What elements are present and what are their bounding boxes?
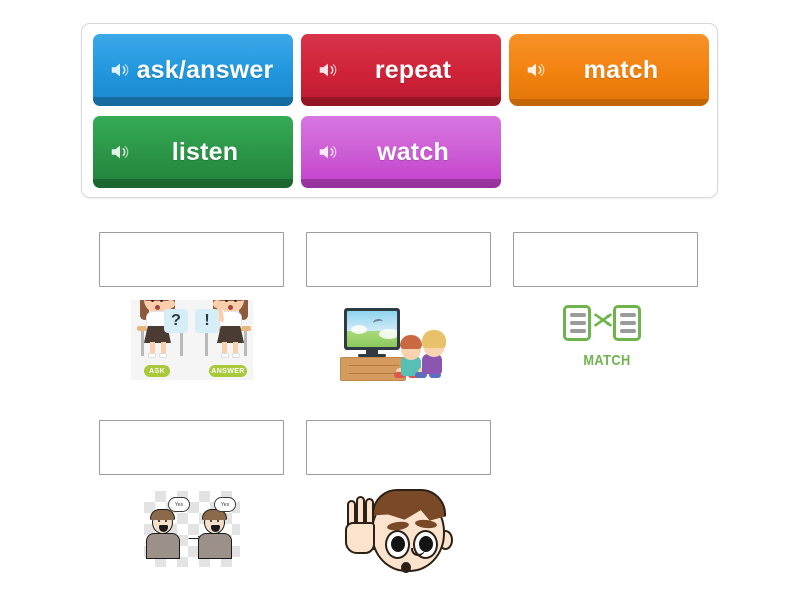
shoe xyxy=(148,353,156,358)
hair xyxy=(400,335,422,349)
tile-label: ask/answer xyxy=(133,58,283,83)
man-speaking-1 xyxy=(146,511,182,561)
tile-listen[interactable]: listen xyxy=(93,116,293,188)
mouth xyxy=(401,562,411,573)
tile-label: repeat xyxy=(341,58,491,83)
cabinet-drawer-line xyxy=(349,365,399,366)
answer-image-ask-answer: ? ASK ! ANSWER xyxy=(131,300,253,380)
hand xyxy=(167,300,175,308)
answer-image-match: MATCH xyxy=(563,302,651,380)
cloud xyxy=(351,325,367,334)
word-bank: ask/answer repeat match xyxy=(81,23,718,198)
mouth xyxy=(155,305,160,310)
answer-image-watch-tv xyxy=(338,303,458,381)
desk-leg xyxy=(141,331,144,356)
desk-leg xyxy=(180,331,183,356)
doc-line xyxy=(570,321,586,325)
speaker-icon[interactable] xyxy=(525,59,547,81)
tile-label: watch xyxy=(341,140,491,165)
shoe xyxy=(221,353,229,358)
drop-zone-match[interactable] xyxy=(513,232,698,287)
tile-repeat[interactable]: repeat xyxy=(301,34,501,106)
man-speaking-2 xyxy=(198,511,234,561)
eye xyxy=(158,520,160,522)
speech-bubble-2: Yes xyxy=(214,497,236,512)
desk-leg xyxy=(244,331,247,356)
document-icon-right xyxy=(613,305,641,341)
tile-ask-answer[interactable]: ask/answer xyxy=(93,34,293,106)
tile-watch[interactable]: watch xyxy=(301,116,501,188)
drop-zone-listen[interactable] xyxy=(306,420,491,475)
drop-zone-ask-answer[interactable] xyxy=(99,232,284,287)
hair xyxy=(216,300,246,301)
tv-screen xyxy=(347,311,397,347)
crossing-arrows-icon xyxy=(593,310,613,330)
badge-answer: ANSWER xyxy=(209,365,247,377)
answer-image-repeat: Yes → Yes xyxy=(144,491,240,567)
word-bank-row-2: listen watch xyxy=(93,116,501,188)
tile-label: match xyxy=(549,58,699,83)
drop-zone-watch[interactable] xyxy=(306,232,491,287)
cabinet-drawer-line xyxy=(349,373,399,374)
cloud xyxy=(379,329,397,339)
speaker-icon[interactable] xyxy=(109,59,131,81)
shoe xyxy=(232,353,240,358)
word-bank-row-1: ask/answer repeat match xyxy=(93,34,709,106)
torso xyxy=(198,533,232,559)
cupped-hand xyxy=(345,522,375,554)
shoe xyxy=(159,353,167,358)
document-icon-left xyxy=(563,305,591,341)
doc-line xyxy=(620,321,636,325)
drop-zone-repeat[interactable] xyxy=(99,420,284,475)
bird xyxy=(372,318,383,327)
tile-match[interactable]: match xyxy=(509,34,709,106)
speaker-icon[interactable] xyxy=(109,141,131,163)
skirt xyxy=(217,326,244,343)
answer-image-listen xyxy=(339,486,461,578)
mouth xyxy=(228,305,233,310)
speaker-icon[interactable] xyxy=(317,59,339,81)
tile-label: listen xyxy=(133,140,283,165)
badge-ask: ASK xyxy=(144,365,170,377)
torso xyxy=(422,354,442,374)
doc-line xyxy=(570,313,586,317)
doc-line xyxy=(570,329,586,333)
speaker-icon[interactable] xyxy=(317,141,339,163)
speech-bubble-1: Yes xyxy=(168,497,190,512)
match-caption: MATCH xyxy=(570,352,645,369)
doc-line xyxy=(620,313,636,317)
doc-line xyxy=(620,329,636,333)
speech-bubble-question: ? xyxy=(164,309,188,333)
eye xyxy=(210,520,212,522)
pupil-left xyxy=(391,536,405,552)
activity-canvas: ask/answer repeat match xyxy=(0,0,800,600)
hand xyxy=(213,300,221,308)
speech-bubble-exclamation: ! xyxy=(195,309,219,333)
torso xyxy=(146,533,180,559)
television xyxy=(344,308,400,350)
desk-leg xyxy=(205,331,208,356)
eye xyxy=(165,520,167,522)
tv-stand xyxy=(366,350,378,355)
hair xyxy=(422,330,446,348)
child-back xyxy=(420,330,454,380)
eye xyxy=(217,520,219,522)
